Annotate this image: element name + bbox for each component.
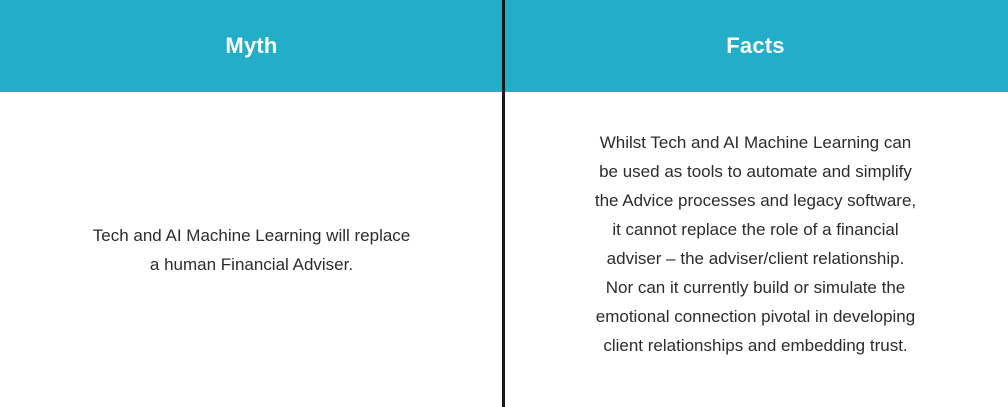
body-text-myth: Tech and AI Machine Learning will replac…	[93, 221, 411, 279]
column-divider	[502, 0, 505, 407]
myth-facts-table: Myth Facts Tech and AI Machine Learning …	[0, 0, 1008, 407]
header-label-myth: Myth	[225, 35, 277, 57]
body-cell-myth: Tech and AI Machine Learning will replac…	[0, 92, 503, 407]
body-cell-facts: Whilst Tech and AI Machine Learning can …	[503, 92, 1008, 407]
header-cell-myth: Myth	[0, 0, 503, 92]
header-cell-facts: Facts	[503, 0, 1008, 92]
header-label-facts: Facts	[726, 35, 784, 57]
body-text-facts: Whilst Tech and AI Machine Learning can …	[595, 128, 916, 360]
